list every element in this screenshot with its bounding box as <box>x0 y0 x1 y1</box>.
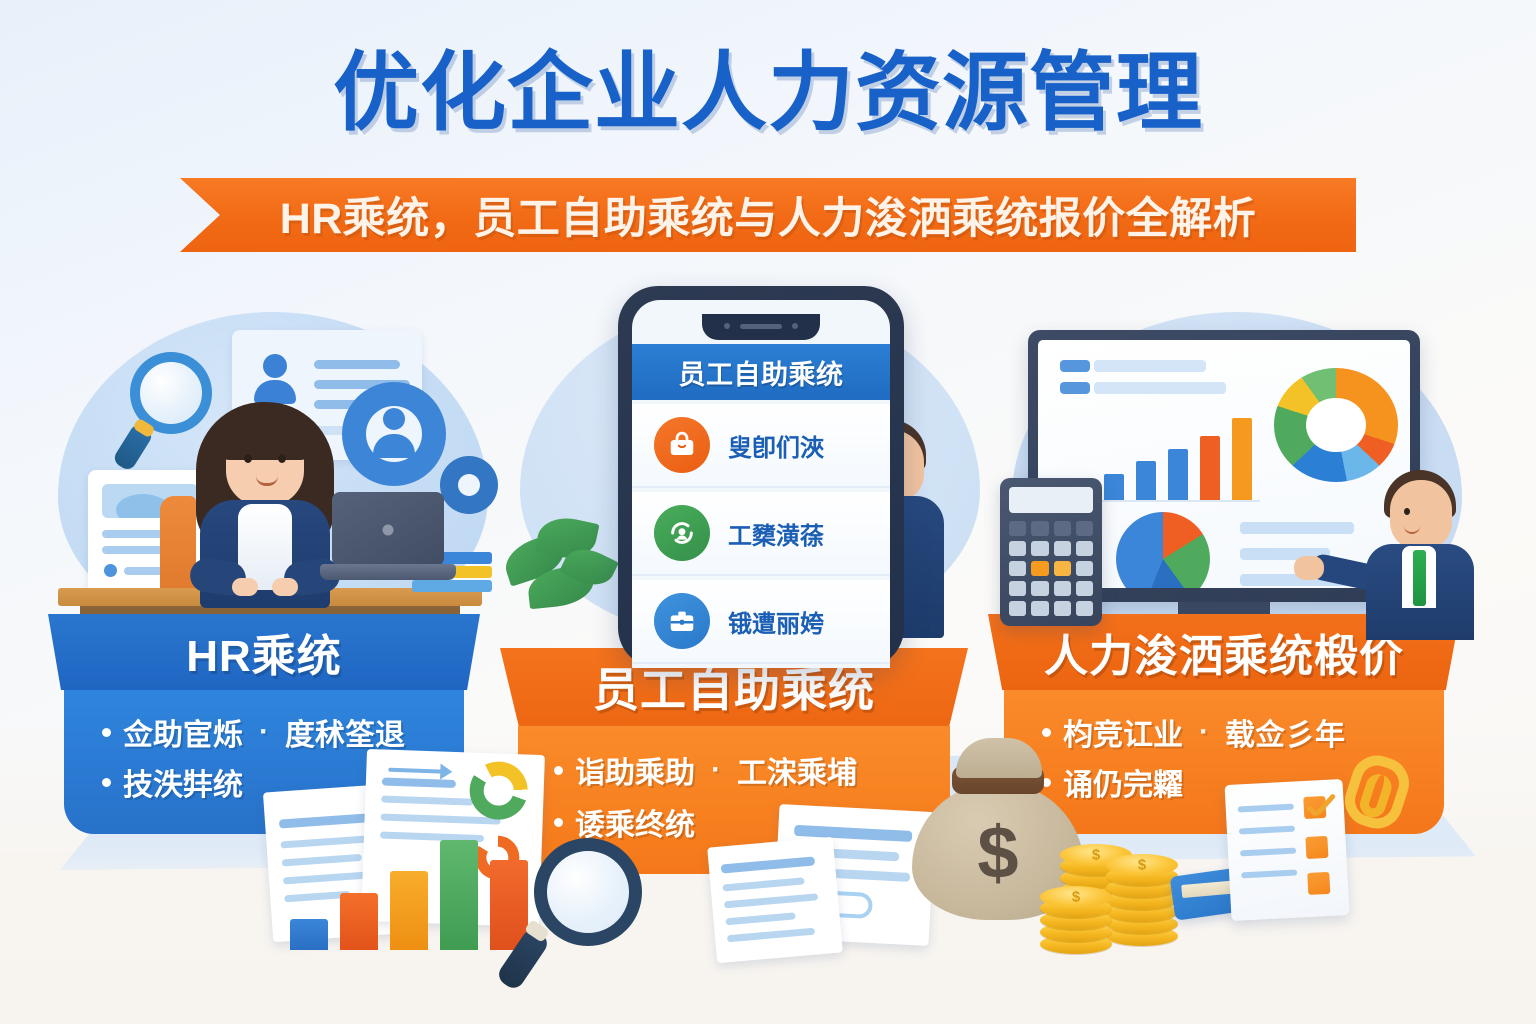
phone-screen: 员工自助乘统 叟卽们浹 <box>632 300 890 668</box>
bullet-dot-icon <box>1042 728 1051 737</box>
panel-hr-bullet-1b: 度秫筌退 <box>285 710 405 754</box>
panel-ess-bullet-row-1: 诣助乘助 · 工浨乘埔 <box>554 748 924 792</box>
panel-ess-bullet-1a: 诣助乘助 <box>575 748 695 792</box>
phone-app-title: 员工自助乘统 <box>632 344 890 400</box>
panel-price-bullet-row-1: 枃竞讧业 · 载佥彡年 <box>1042 710 1418 754</box>
phone-notch <box>702 314 820 340</box>
check-mark-icon <box>1301 793 1337 825</box>
page-title: 优化企业人力资源管理 <box>0 48 1536 138</box>
subtitle-ribbon: HR乘统，员工自助乘统与人力浚洒乘统报价全解析 <box>180 178 1356 252</box>
bullet-dot-icon <box>554 766 563 775</box>
summary-document-icon <box>707 837 843 964</box>
phone-menu-label-2: 工櫫潢蒣 <box>728 516 824 551</box>
panel-hr-bullet-2a: 技泆弉统 <box>123 760 243 804</box>
panel-hr-bullet-1a: 佥助宦烁 <box>123 710 243 754</box>
monitor-bar-chart <box>1096 418 1256 500</box>
currency-symbol: $ <box>977 816 1018 890</box>
gear-person-glyph <box>368 404 420 464</box>
panel-hr-heading: HR乘统 <box>48 614 480 690</box>
bullet-dot-icon <box>102 778 111 787</box>
employee-refresh-icon <box>654 505 710 561</box>
magnifier-large-icon <box>496 838 646 994</box>
bullet-separator: · <box>707 753 725 787</box>
phone-menu-item-3[interactable]: 锇遭丽姱 <box>632 580 890 664</box>
ribbon-shape: HR乘统，员工自助乘统与人力浚洒乘统报价全解析 <box>180 178 1356 252</box>
checklist-icon <box>1225 779 1350 921</box>
infographic-canvas: 优化企业人力资源管理 HR乘统，员工自助乘统与人力浚洒乘统报价全解析 <box>0 0 1536 1024</box>
monitor-pie-chart <box>1116 512 1210 588</box>
laptop-icon <box>320 492 448 592</box>
phone-menu-label-3: 锇遭丽姱 <box>728 604 824 639</box>
phone-menu-item-2[interactable]: 工櫫潢蒣 <box>632 492 890 576</box>
monitor-donut-chart <box>1274 368 1398 482</box>
coin-stack-icon: $ <box>1040 862 1118 954</box>
gear-small-icon <box>440 456 498 514</box>
phone-menu-item-1[interactable]: 叟卽们浹 <box>632 404 890 488</box>
bullet-separator: · <box>255 715 273 749</box>
calculator-icon <box>1000 478 1102 626</box>
shopping-bag-icon <box>654 417 710 473</box>
bullet-dot-icon <box>554 818 563 827</box>
phone-menu-label-1: 叟卽们浹 <box>728 428 824 463</box>
smartphone-mockup: 员工自助乘统 叟卽们浹 <box>618 286 904 668</box>
panel-price-bullet-1b: 载佥彡年 <box>1225 710 1345 754</box>
plant-icon <box>498 516 618 632</box>
briefcase-icon <box>654 593 710 649</box>
bullet-dot-icon <box>102 728 111 737</box>
subtitle-text: HR乘统，员工自助乘统与人力浚洒乘统报价全解析 <box>280 184 1257 246</box>
bullet-separator: · <box>1195 715 1213 749</box>
panel-hr-bullet-row-1: 佥助宦烁 · 度秫筌退 <box>102 710 438 754</box>
analyst-avatar <box>1356 468 1480 640</box>
panel-ess-bullet-1b: 工浨乘埔 <box>737 748 857 792</box>
